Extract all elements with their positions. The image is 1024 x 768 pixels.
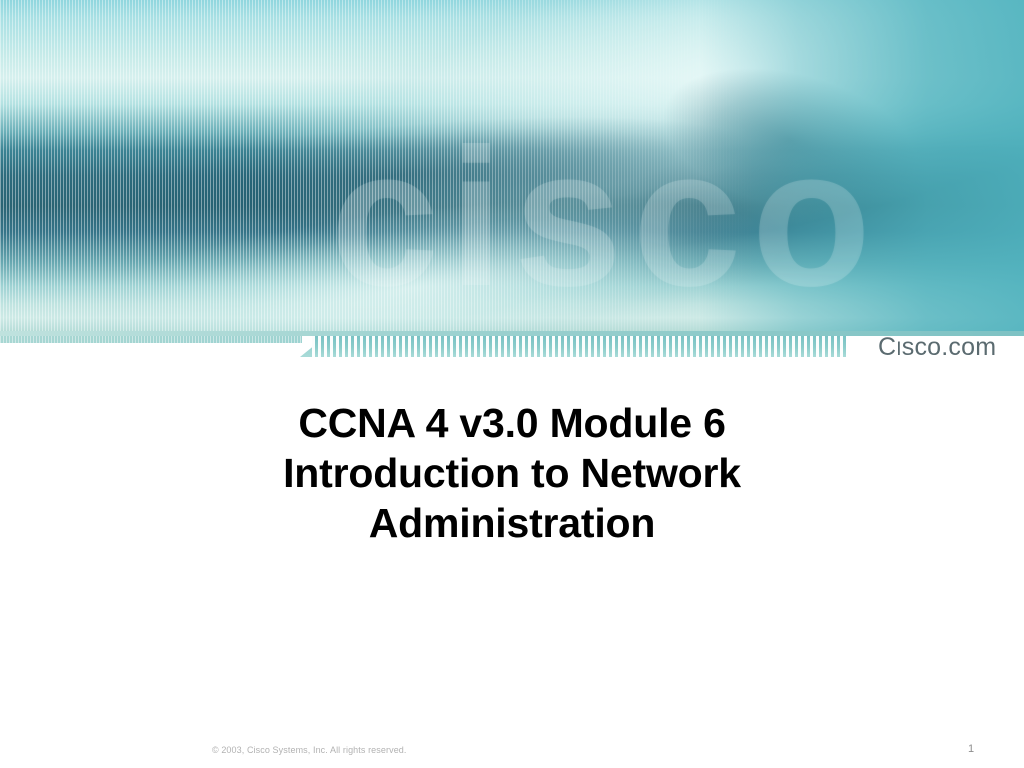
cisco-banner-image: cisco (0, 0, 1024, 336)
cisco-com-prefix: C (878, 333, 896, 361)
slide-title-line-3: Administration (112, 498, 912, 548)
comb-teeth-slots (312, 336, 846, 357)
vertical-pinstripe-overlay (0, 0, 1024, 336)
cisco-com-suffix: sco.com (902, 333, 996, 361)
slide-title: CCNA 4 v3.0 Module 6 Introduction to Net… (112, 398, 912, 548)
slide-canvas: cisco CIsco.com CCNA 4 v3.0 Module 6 Int… (0, 0, 1024, 768)
comb-teeth-strip (0, 336, 1024, 360)
slide-title-line-2: Introduction to Network (112, 448, 912, 498)
cisco-com-small-i: I (896, 339, 901, 360)
comb-left-tail-stripes (0, 336, 302, 343)
footer-copyright-text: © 2003, Cisco Systems, Inc. All rights r… (212, 745, 407, 755)
cisco-com-wordmark: CIsco.com (878, 333, 996, 362)
footer-page-number: 1 (968, 743, 974, 755)
slide-title-line-1: CCNA 4 v3.0 Module 6 (112, 398, 912, 448)
